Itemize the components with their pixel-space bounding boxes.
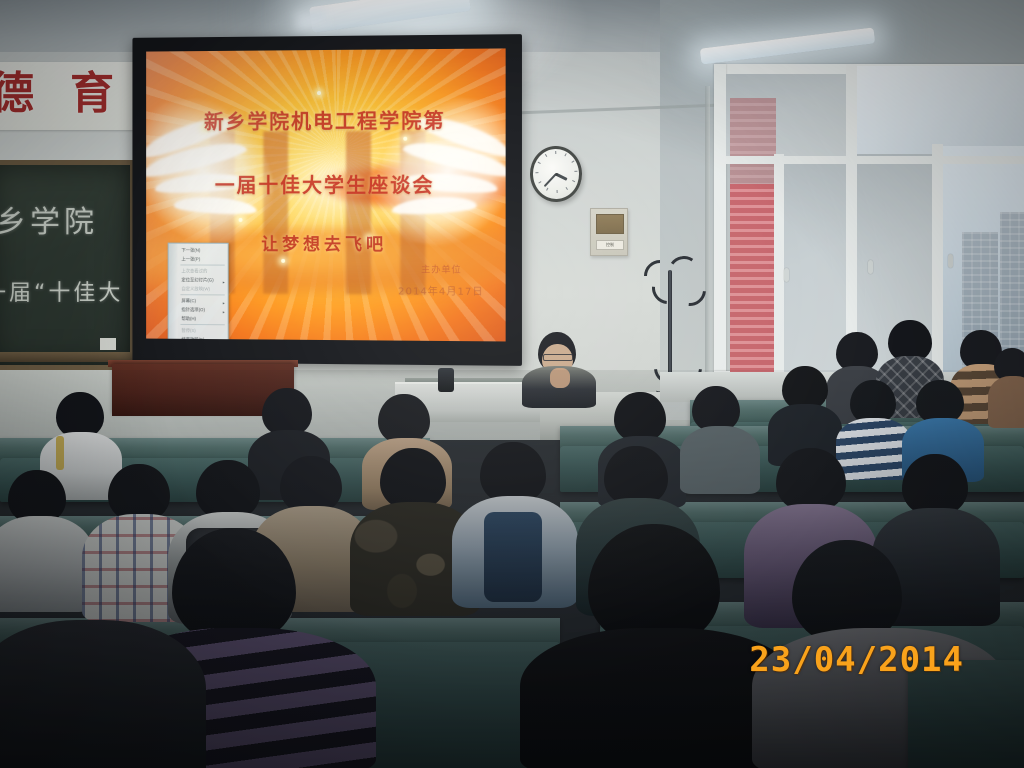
sparkle-icon xyxy=(317,91,321,95)
context-menu-item-screen[interactable]: 屏幕(C)▸ xyxy=(178,296,227,305)
context-menu-separator xyxy=(180,264,224,265)
red-blind-upper xyxy=(730,98,776,184)
wall-panel-label: 控制 xyxy=(596,240,624,250)
context-menu-item-last-viewed: 上次查看过的 xyxy=(178,266,227,275)
chalk-text-line-1: 乡学院 xyxy=(0,197,98,241)
slide-organizer: 主办单位 xyxy=(421,262,462,275)
projection-screen: 新乡学院机电工程学院第 一届十佳大学生座谈会 让梦想去飞吧 主办单位 2014年… xyxy=(132,34,522,366)
context-menu-item-custom-show: 自定义放映(W) xyxy=(178,284,227,293)
audience xyxy=(0,330,1024,768)
classroom-photo: 德 育 乡学院 一届“十佳大 xyxy=(0,0,1024,768)
slide-title-line-1: 新乡学院机电工程学院第 xyxy=(146,104,506,135)
wall-panel-display xyxy=(596,214,624,234)
sparkle-icon xyxy=(281,259,285,263)
wall-banner: 德 育 xyxy=(0,62,144,130)
banner-char-yu: 育 xyxy=(70,68,114,120)
audience-member xyxy=(988,348,1024,426)
context-menu-item-pointer-options[interactable]: 指针选项(O)▸ xyxy=(178,305,227,314)
chalk-text-line-2: 一届“十佳大 xyxy=(0,275,123,307)
sparkle-icon xyxy=(238,218,242,222)
context-menu-item-previous[interactable]: 上一张(P) xyxy=(178,255,227,264)
window-mullion-horizontal xyxy=(726,156,1024,164)
powerpoint-context-menu[interactable]: 下一张(N) 上一张(P) 上次查看过的 定位至幻灯片(G)▸ 自定义放映(W)… xyxy=(168,243,229,342)
context-menu-item-next[interactable]: 下一张(N) xyxy=(178,246,227,255)
banner-char-de: 德 xyxy=(0,68,34,120)
projected-slide: 新乡学院机电工程学院第 一届十佳大学生座谈会 让梦想去飞吧 主办单位 2014年… xyxy=(146,48,506,341)
context-menu-item-goto-slide[interactable]: 定位至幻灯片(G)▸ xyxy=(178,275,227,284)
window-handle-mid[interactable] xyxy=(868,260,873,274)
audience-member-foreground xyxy=(0,620,204,768)
camera-timestamp: 23/04/2014 xyxy=(749,640,964,680)
clock-center-pin xyxy=(554,172,557,175)
slide-date: 2014年4月17日 xyxy=(398,282,484,298)
context-menu-rail xyxy=(169,244,178,342)
window-handle-left[interactable] xyxy=(784,268,789,282)
wall-control-panel[interactable]: 控制 xyxy=(590,208,628,256)
slide-title-line-2: 一届十佳大学生座谈会 xyxy=(146,169,506,198)
context-menu-item-help[interactable]: 帮助(H) xyxy=(178,314,227,323)
audience-member xyxy=(0,470,90,610)
window-handle-right[interactable] xyxy=(948,254,953,268)
lanyard xyxy=(56,436,64,470)
